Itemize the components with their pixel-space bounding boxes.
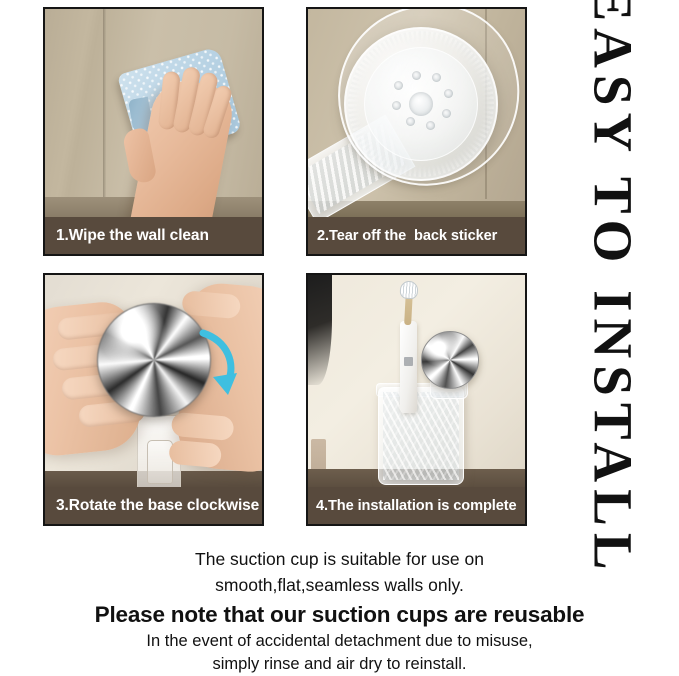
clockwise-rotation-arrow-icon — [197, 327, 243, 401]
wall-seam — [103, 9, 106, 217]
vertical-headline-text: EASY TO INSTALL — [586, 0, 641, 576]
footer-line-1: The suction cup is suitable for use on — [0, 546, 679, 572]
step-2-photo — [308, 9, 525, 217]
suction-base-disc — [97, 303, 211, 417]
finger — [171, 412, 235, 441]
step-1-caption: 1.Wipe the wall clean — [45, 217, 262, 254]
footer-line-2: smooth,flat,seamless walls only. — [0, 572, 679, 598]
step-panel-2: 2.Tear off the back sticker — [306, 7, 527, 256]
installed-suction-cup — [421, 331, 479, 389]
step-4-caption: 4.The installation is complete — [308, 487, 525, 524]
finger — [168, 440, 222, 468]
step-2-caption: 2.Tear off the back sticker — [308, 217, 525, 254]
footer-line-3: In the event of accidental detachment du… — [0, 630, 679, 653]
step-3-photo — [45, 275, 262, 487]
step-panel-4: 4.The installation is complete — [306, 273, 527, 526]
step-1-photo — [45, 9, 262, 217]
step-4-photo — [308, 275, 525, 487]
footer-note: Please note that our suction cups are re… — [0, 600, 679, 630]
footer-copy: The suction cup is suitable for use on s… — [0, 546, 679, 676]
step-3-caption: 3.Rotate the base clockwise — [45, 487, 262, 524]
step-panel-1: 1.Wipe the wall clean — [43, 7, 264, 256]
electric-toothbrush-body — [400, 321, 417, 413]
toothbrush-button — [404, 357, 413, 366]
footer-line-4: simply rinse and air dry to reinstall. — [0, 653, 679, 676]
finger — [181, 290, 241, 319]
toothbrush-head-icon — [399, 280, 418, 299]
step-panel-3: 3.Rotate the base clockwise — [43, 273, 264, 526]
vertical-headline: EASY TO INSTALL — [548, 0, 679, 560]
toothbrush-holder-cup — [378, 387, 464, 485]
